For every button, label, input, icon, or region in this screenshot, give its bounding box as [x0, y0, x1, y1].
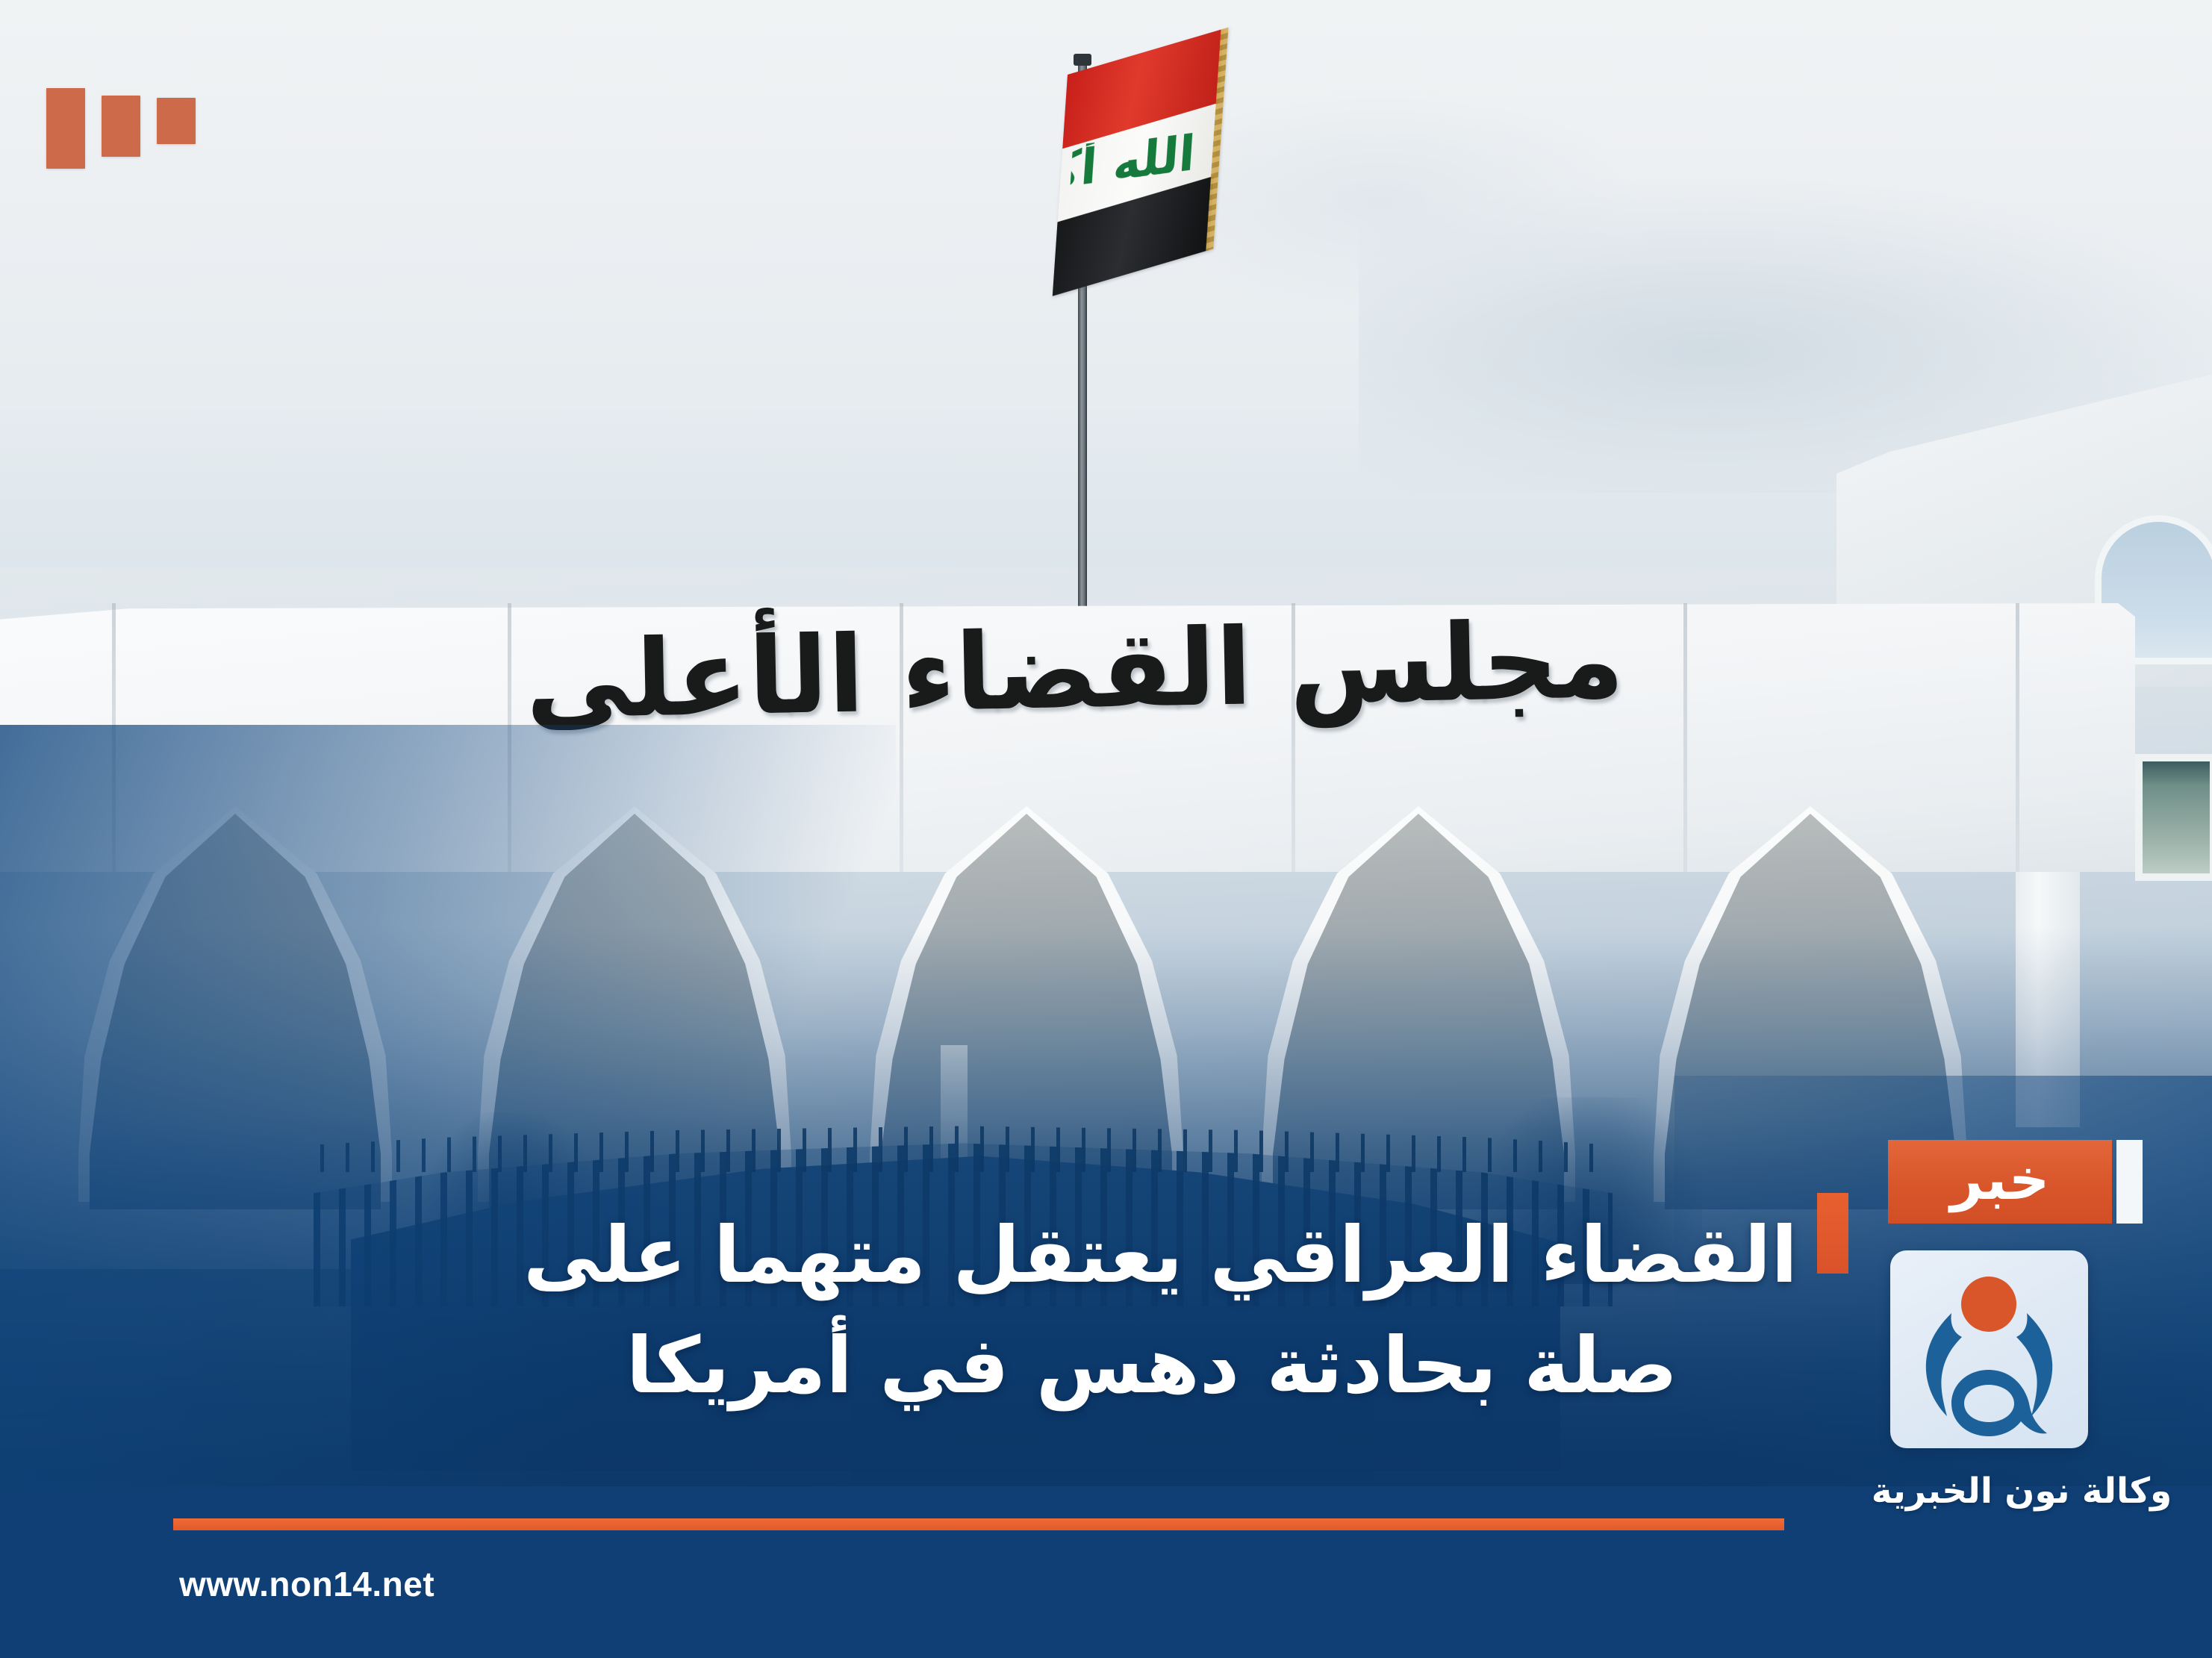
flagpole-cap [1074, 54, 1091, 66]
headline-line-2: صلة بحادثة دهس في أمريكا [409, 1311, 1798, 1421]
news-badge-label: خبر [1950, 1151, 2049, 1212]
headline-accent-tick [1817, 1193, 1848, 1274]
news-badge: خبر [1888, 1140, 2112, 1224]
headline-line-1: القضاء العراقي يعتقل متهما على [409, 1200, 1798, 1311]
website-url[interactable]: www.non14.net [179, 1564, 434, 1604]
orange-divider [173, 1518, 1784, 1530]
building-window-right [2135, 754, 2212, 881]
bar-2 [102, 96, 140, 157]
brand-block: خبر وكالة نون الخبرية [1857, 1140, 2171, 1512]
headline: القضاء العراقي يعتقل متهما على صلة بحادث… [409, 1200, 1798, 1421]
bar-1 [46, 88, 85, 169]
agency-name: وكالة نون الخبرية [1857, 1471, 2186, 1512]
news-card: الله أكبر مجلس القضاء الأعلى [0, 0, 2212, 1658]
three-bars-mark-icon [46, 88, 196, 169]
bar-3 [157, 98, 196, 144]
news-badge-bar [2116, 1140, 2143, 1224]
noon-agency-logo-icon[interactable] [1890, 1250, 2088, 1448]
